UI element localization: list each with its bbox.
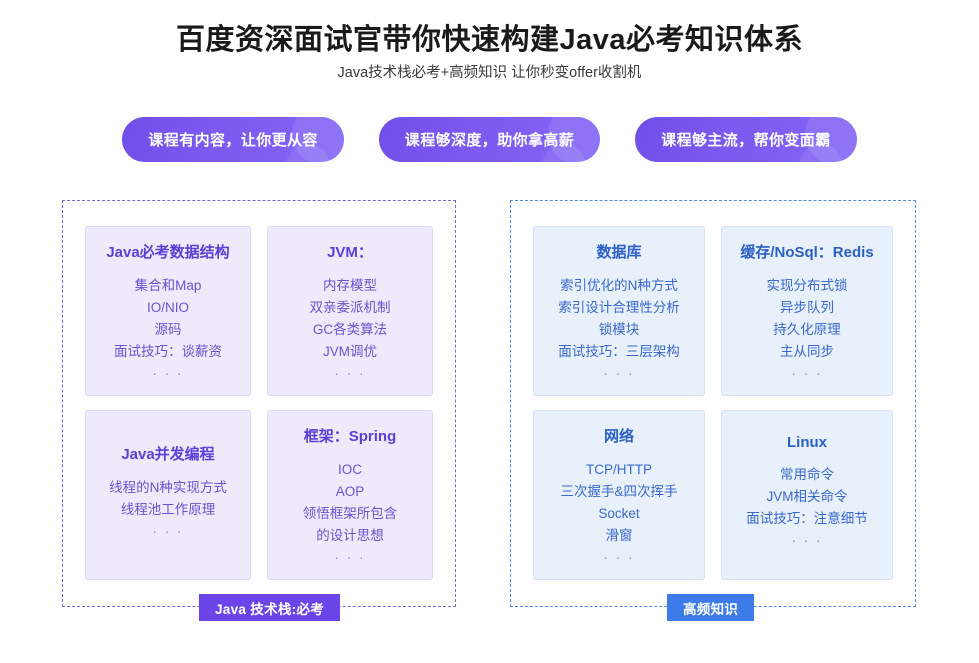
card-jvm[interactable]: JVM： 内存模型 双亲委派机制 GC各类算法 JVM调优 · · · — [267, 226, 433, 396]
panel-left-card-grid: Java必考数据结构 集合和Map IO/NIO 源码 面试技巧：谈薪资 · ·… — [63, 201, 455, 606]
card-line: IOC — [338, 459, 362, 481]
card-line: Socket — [598, 503, 639, 525]
card-line: 索引优化的N种方式 — [560, 275, 678, 297]
card-title: 网络 — [604, 425, 634, 446]
card-line: 线程池工作原理 — [121, 499, 216, 521]
highlight-pill-row: 课程有内容，让你更从容 课程够深度，助你拿高薪 课程够主流，帮你变面霸 — [0, 117, 979, 162]
card-line: 内存模型 — [323, 275, 377, 297]
highlight-pill-2-label: 课程够深度，助你拿高薪 — [405, 129, 574, 150]
card-line: GC各类算法 — [313, 319, 387, 341]
card-line: 异步队列 — [780, 297, 834, 319]
course-poster: 百度资深面试官带你快速构建Java必考知识体系 Java技术栈必考+高频知识 让… — [0, 0, 979, 663]
card-ellipsis: · · · — [335, 363, 366, 385]
card-ellipsis: · · · — [153, 521, 184, 543]
page-subtitle: Java技术栈必考+高频知识 让你秒变offer收割机 — [0, 61, 979, 82]
card-line: 三次握手&四次挥手 — [560, 481, 677, 503]
card-ellipsis: · · · — [604, 363, 635, 385]
card-title: Java并发编程 — [121, 443, 214, 464]
card-ellipsis: · · · — [335, 547, 366, 569]
card-title: JVM： — [327, 241, 373, 262]
card-line: JVM相关命令 — [767, 486, 848, 508]
card-ellipsis: · · · — [792, 363, 823, 385]
card-line: IO/NIO — [147, 297, 189, 319]
card-title: 数据库 — [596, 241, 641, 262]
card-line: 的设计思想 — [316, 525, 384, 547]
card-ellipsis: · · · — [153, 363, 184, 385]
highlight-pill-1[interactable]: 课程有内容，让你更从容 — [122, 117, 343, 162]
highlight-pill-1-label: 课程有内容，让你更从容 — [148, 129, 317, 150]
card-java-data-structure[interactable]: Java必考数据结构 集合和Map IO/NIO 源码 面试技巧：谈薪资 · ·… — [85, 226, 251, 396]
card-linux[interactable]: Linux 常用命令 JVM相关命令 面试技巧：注意细节 · · · — [721, 410, 893, 580]
card-line: 滑窗 — [606, 525, 633, 547]
panel-right-card-grid: 数据库 索引优化的N种方式 索引设计合理性分析 锁模块 面试技巧：三层架构 · … — [511, 201, 915, 606]
highlight-pill-2[interactable]: 课程够深度，助你拿高薪 — [379, 117, 600, 162]
card-framework-spring[interactable]: 框架：Spring IOC AOP 领悟框架所包含 的设计思想 · · · — [267, 410, 433, 580]
panel-java-stack-required: Java必考数据结构 集合和Map IO/NIO 源码 面试技巧：谈薪资 · ·… — [62, 200, 456, 607]
card-line: 双亲委派机制 — [310, 297, 391, 319]
card-line: AOP — [336, 481, 365, 503]
card-java-concurrency[interactable]: Java并发编程 线程的N种实现方式 线程池工作原理 · · · — [85, 410, 251, 580]
card-line: 领悟框架所包含 — [303, 503, 398, 525]
card-line: 索引设计合理性分析 — [558, 297, 680, 319]
card-line: 集合和Map — [135, 275, 202, 297]
card-line: JVM调优 — [323, 341, 377, 363]
page-title: 百度资深面试官带你快速构建Java必考知识体系 — [0, 16, 979, 58]
card-line: 常用命令 — [780, 464, 834, 486]
card-line: 源码 — [155, 319, 182, 341]
card-network[interactable]: 网络 TCP/HTTP 三次握手&四次挥手 Socket 滑窗 · · · — [533, 410, 705, 580]
card-line: 线程的N种实现方式 — [109, 477, 227, 499]
highlight-pill-3-label: 课程够主流，帮你变面霸 — [661, 129, 830, 150]
card-line: 面试技巧：谈薪资 — [114, 341, 222, 363]
card-line: 面试技巧：三层架构 — [558, 341, 680, 363]
card-database[interactable]: 数据库 索引优化的N种方式 索引设计合理性分析 锁模块 面试技巧：三层架构 · … — [533, 226, 705, 396]
badge-java-stack-required[interactable]: Java 技术栈:必考 — [199, 594, 340, 621]
card-title: Java必考数据结构 — [106, 241, 229, 262]
card-ellipsis: · · · — [604, 547, 635, 569]
card-line: 实现分布式锁 — [767, 275, 848, 297]
card-line: 持久化原理 — [773, 319, 841, 341]
card-title: 框架：Spring — [304, 425, 397, 446]
panel-high-frequency-knowledge: 数据库 索引优化的N种方式 索引设计合理性分析 锁模块 面试技巧：三层架构 · … — [510, 200, 916, 607]
card-title: 缓存/NoSql：Redis — [740, 241, 873, 262]
badge-high-frequency-knowledge[interactable]: 高频知识 — [667, 594, 754, 621]
card-line: 锁模块 — [599, 319, 640, 341]
card-title: Linux — [787, 434, 827, 451]
highlight-pill-3[interactable]: 课程够主流，帮你变面霸 — [635, 117, 856, 162]
card-ellipsis: · · · — [792, 530, 823, 552]
card-cache-nosql-redis[interactable]: 缓存/NoSql：Redis 实现分布式锁 异步队列 持久化原理 主从同步 · … — [721, 226, 893, 396]
card-line: 面试技巧：注意细节 — [746, 508, 868, 530]
card-line: TCP/HTTP — [586, 459, 652, 481]
card-line: 主从同步 — [780, 341, 834, 363]
